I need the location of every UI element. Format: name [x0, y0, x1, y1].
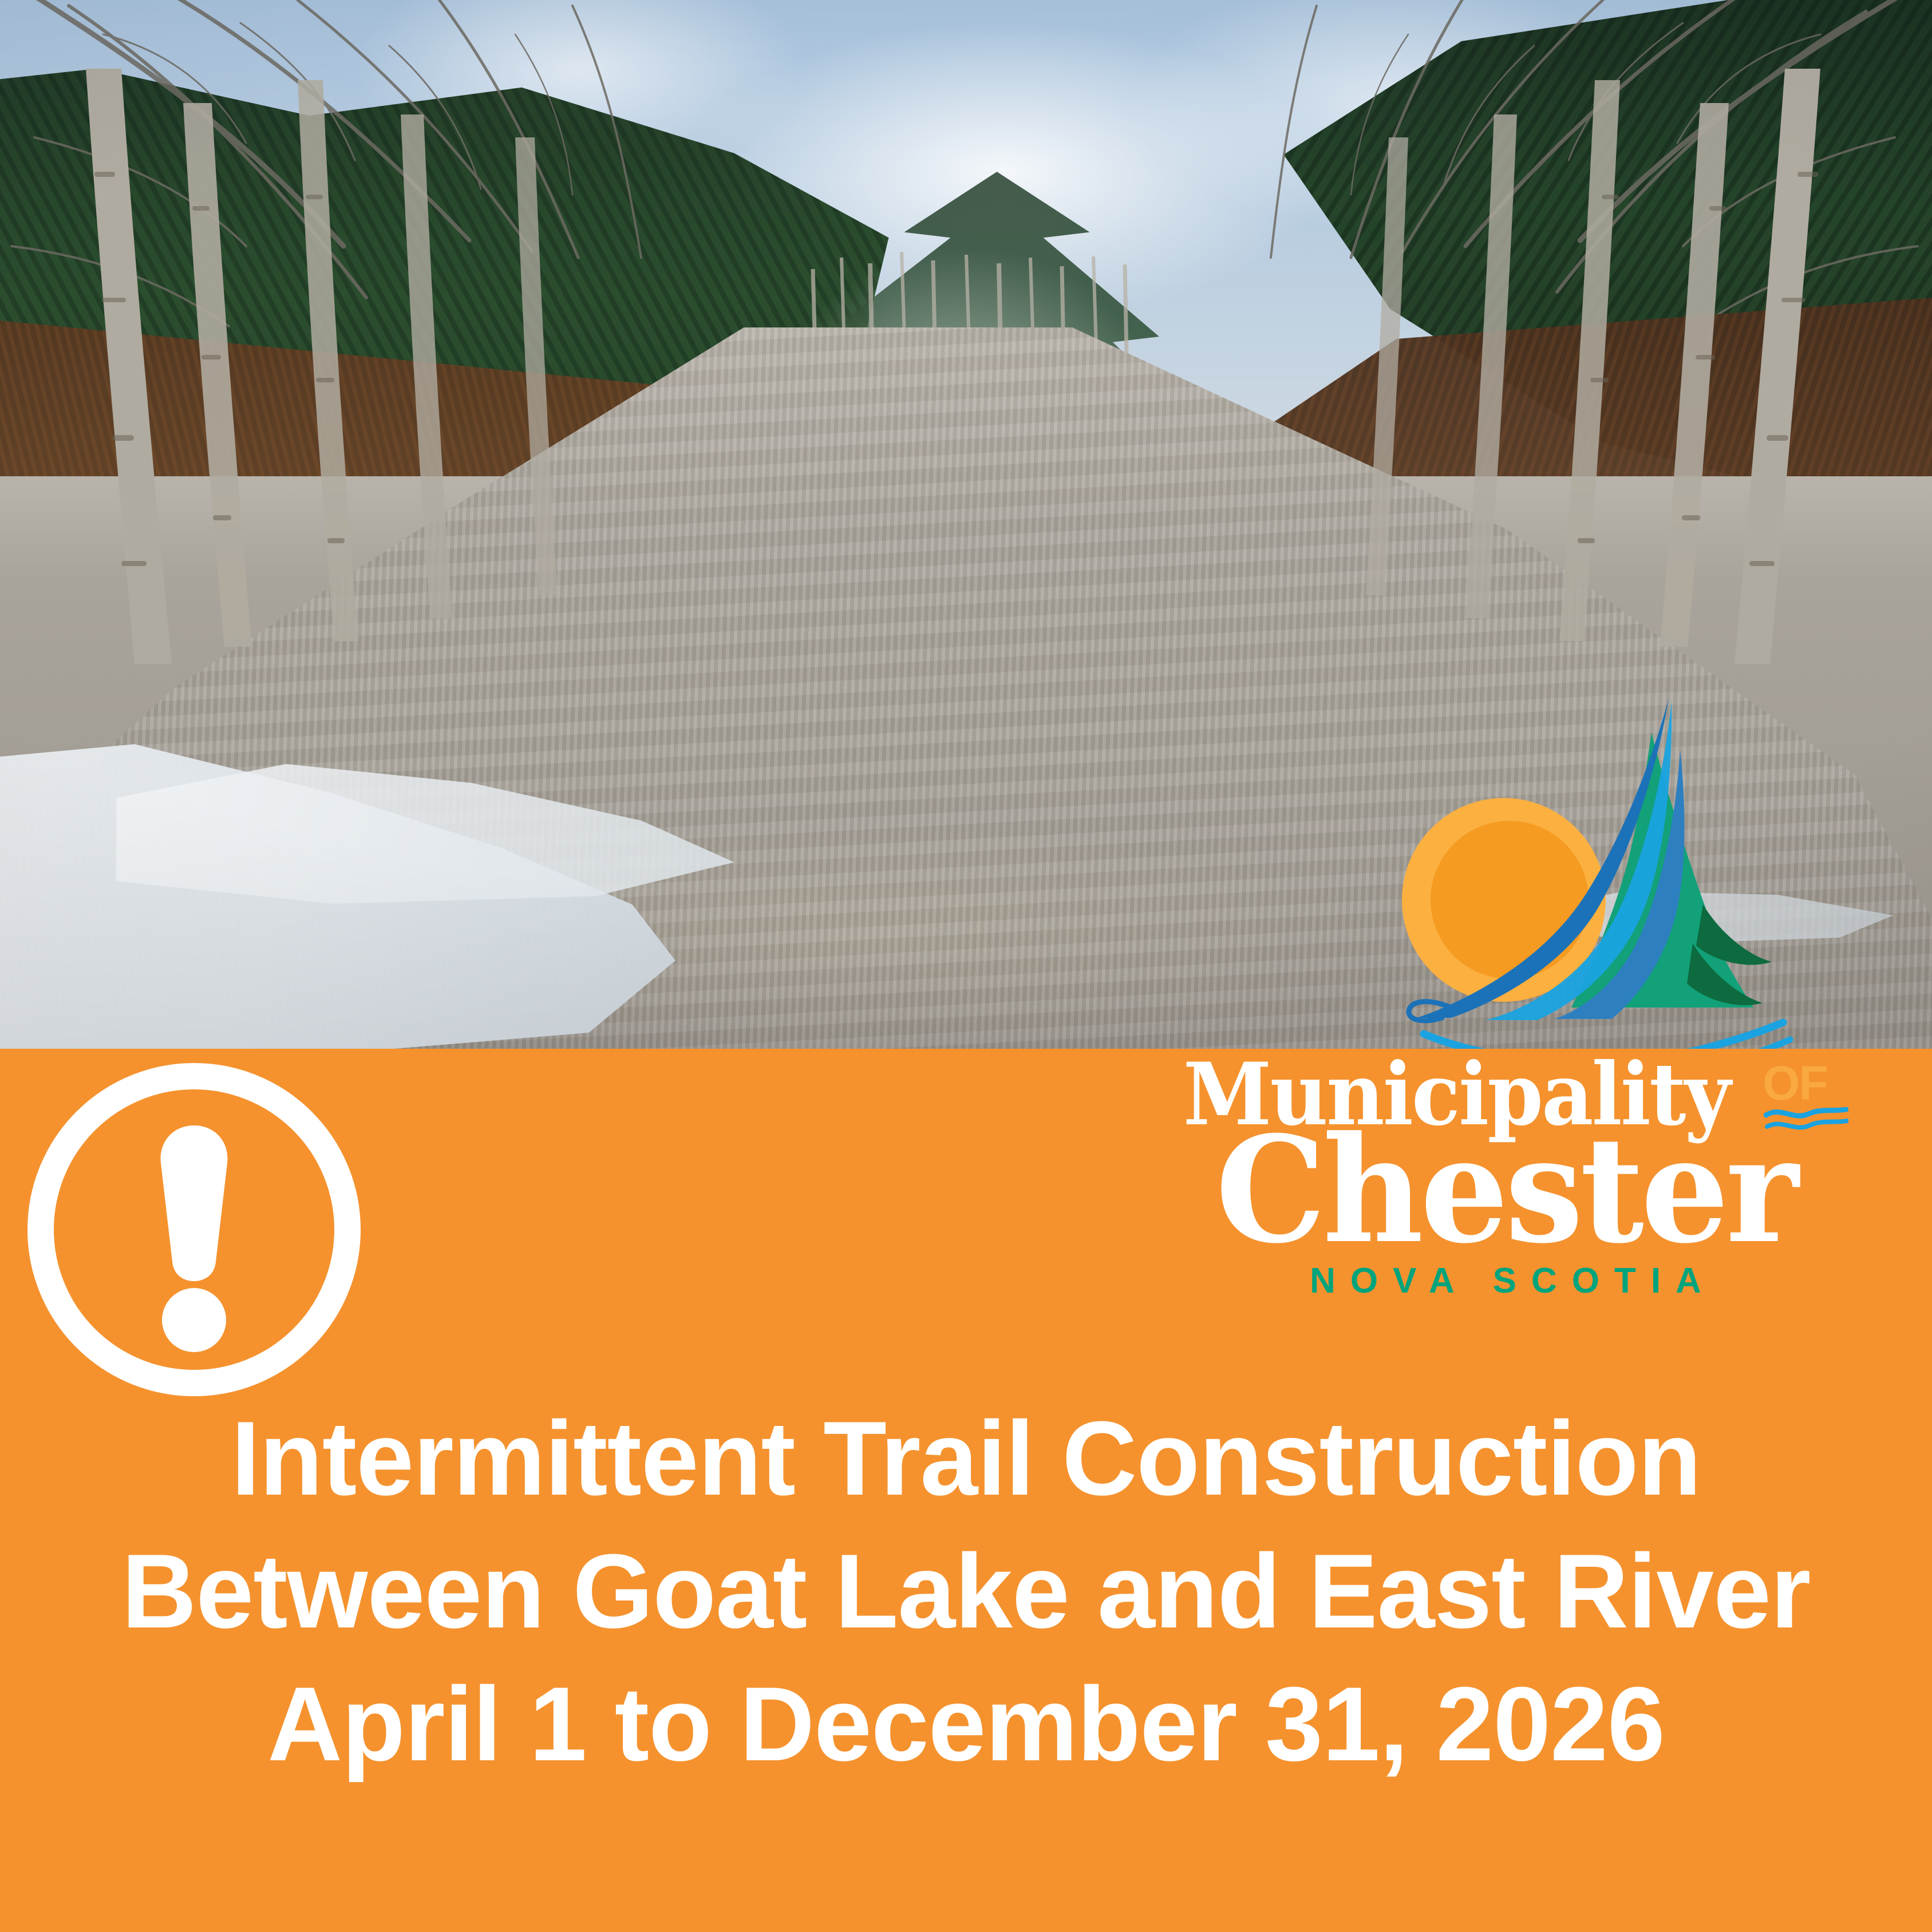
notice-poster: Municipality OF Chester NOVA SCOTIA Inte…	[0, 0, 1932, 1932]
headline-line-1: Intermittent Trail Construction	[14, 1392, 1917, 1525]
orange-notice-panel: Municipality OF Chester NOVA SCOTIA Inte…	[0, 1049, 1932, 1932]
municipality-of-chester-wordmark: Municipality OF Chester NOVA SCOTIA	[1176, 1049, 1835, 1295]
notice-headline: Intermittent Trail Construction Between …	[0, 1392, 1932, 1790]
chester-logo-mark	[1382, 664, 1795, 1076]
wordmark-chester: Chester	[1193, 1127, 1819, 1255]
headline-line-3: April 1 to December 31, 2026	[14, 1658, 1917, 1791]
sun-inner-icon	[1431, 821, 1589, 979]
headline-line-2: Between Goat Lake and East River	[14, 1525, 1917, 1658]
wordmark-of: OF	[1763, 1059, 1827, 1107]
exclamation-circle-icon	[26, 1061, 362, 1398]
